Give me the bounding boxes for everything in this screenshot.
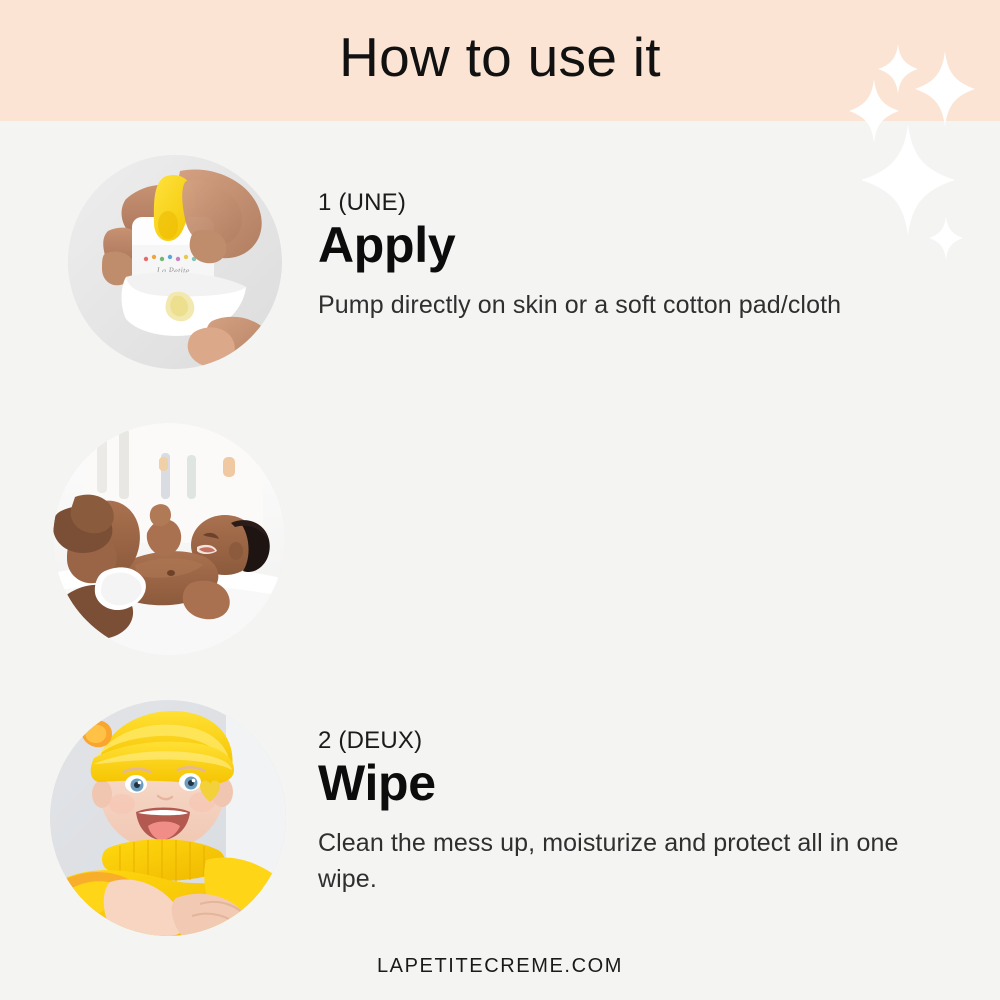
step-photo-wipe — [53, 423, 285, 655]
footer-website: LAPETITECREME.COM — [377, 955, 623, 977]
step-item: 3 (TROIS) Voilà A protected and smooth b… — [0, 697, 1000, 947]
page-title: How to use it — [0, 0, 1000, 121]
step-photo-voila — [50, 700, 286, 936]
footer: LAPETITECREME.COM — [0, 955, 1000, 978]
step-description: Pump directly on skin or a soft cotton p… — [318, 288, 943, 324]
step-photo-apply: La Petite — [68, 155, 282, 369]
step-text-block: 1 (UNE) Apply Pump directly on skin or a… — [318, 190, 968, 324]
step-item: 2 (DEUX) Wipe Clean the mess up, moistur… — [0, 420, 1000, 670]
how-to-use-infographic: How to use it — [0, 0, 1000, 1000]
step-heading: Apply — [318, 218, 968, 272]
step-index: 1 (UNE) — [318, 190, 968, 216]
step-item: La Petite — [0, 150, 1000, 400]
